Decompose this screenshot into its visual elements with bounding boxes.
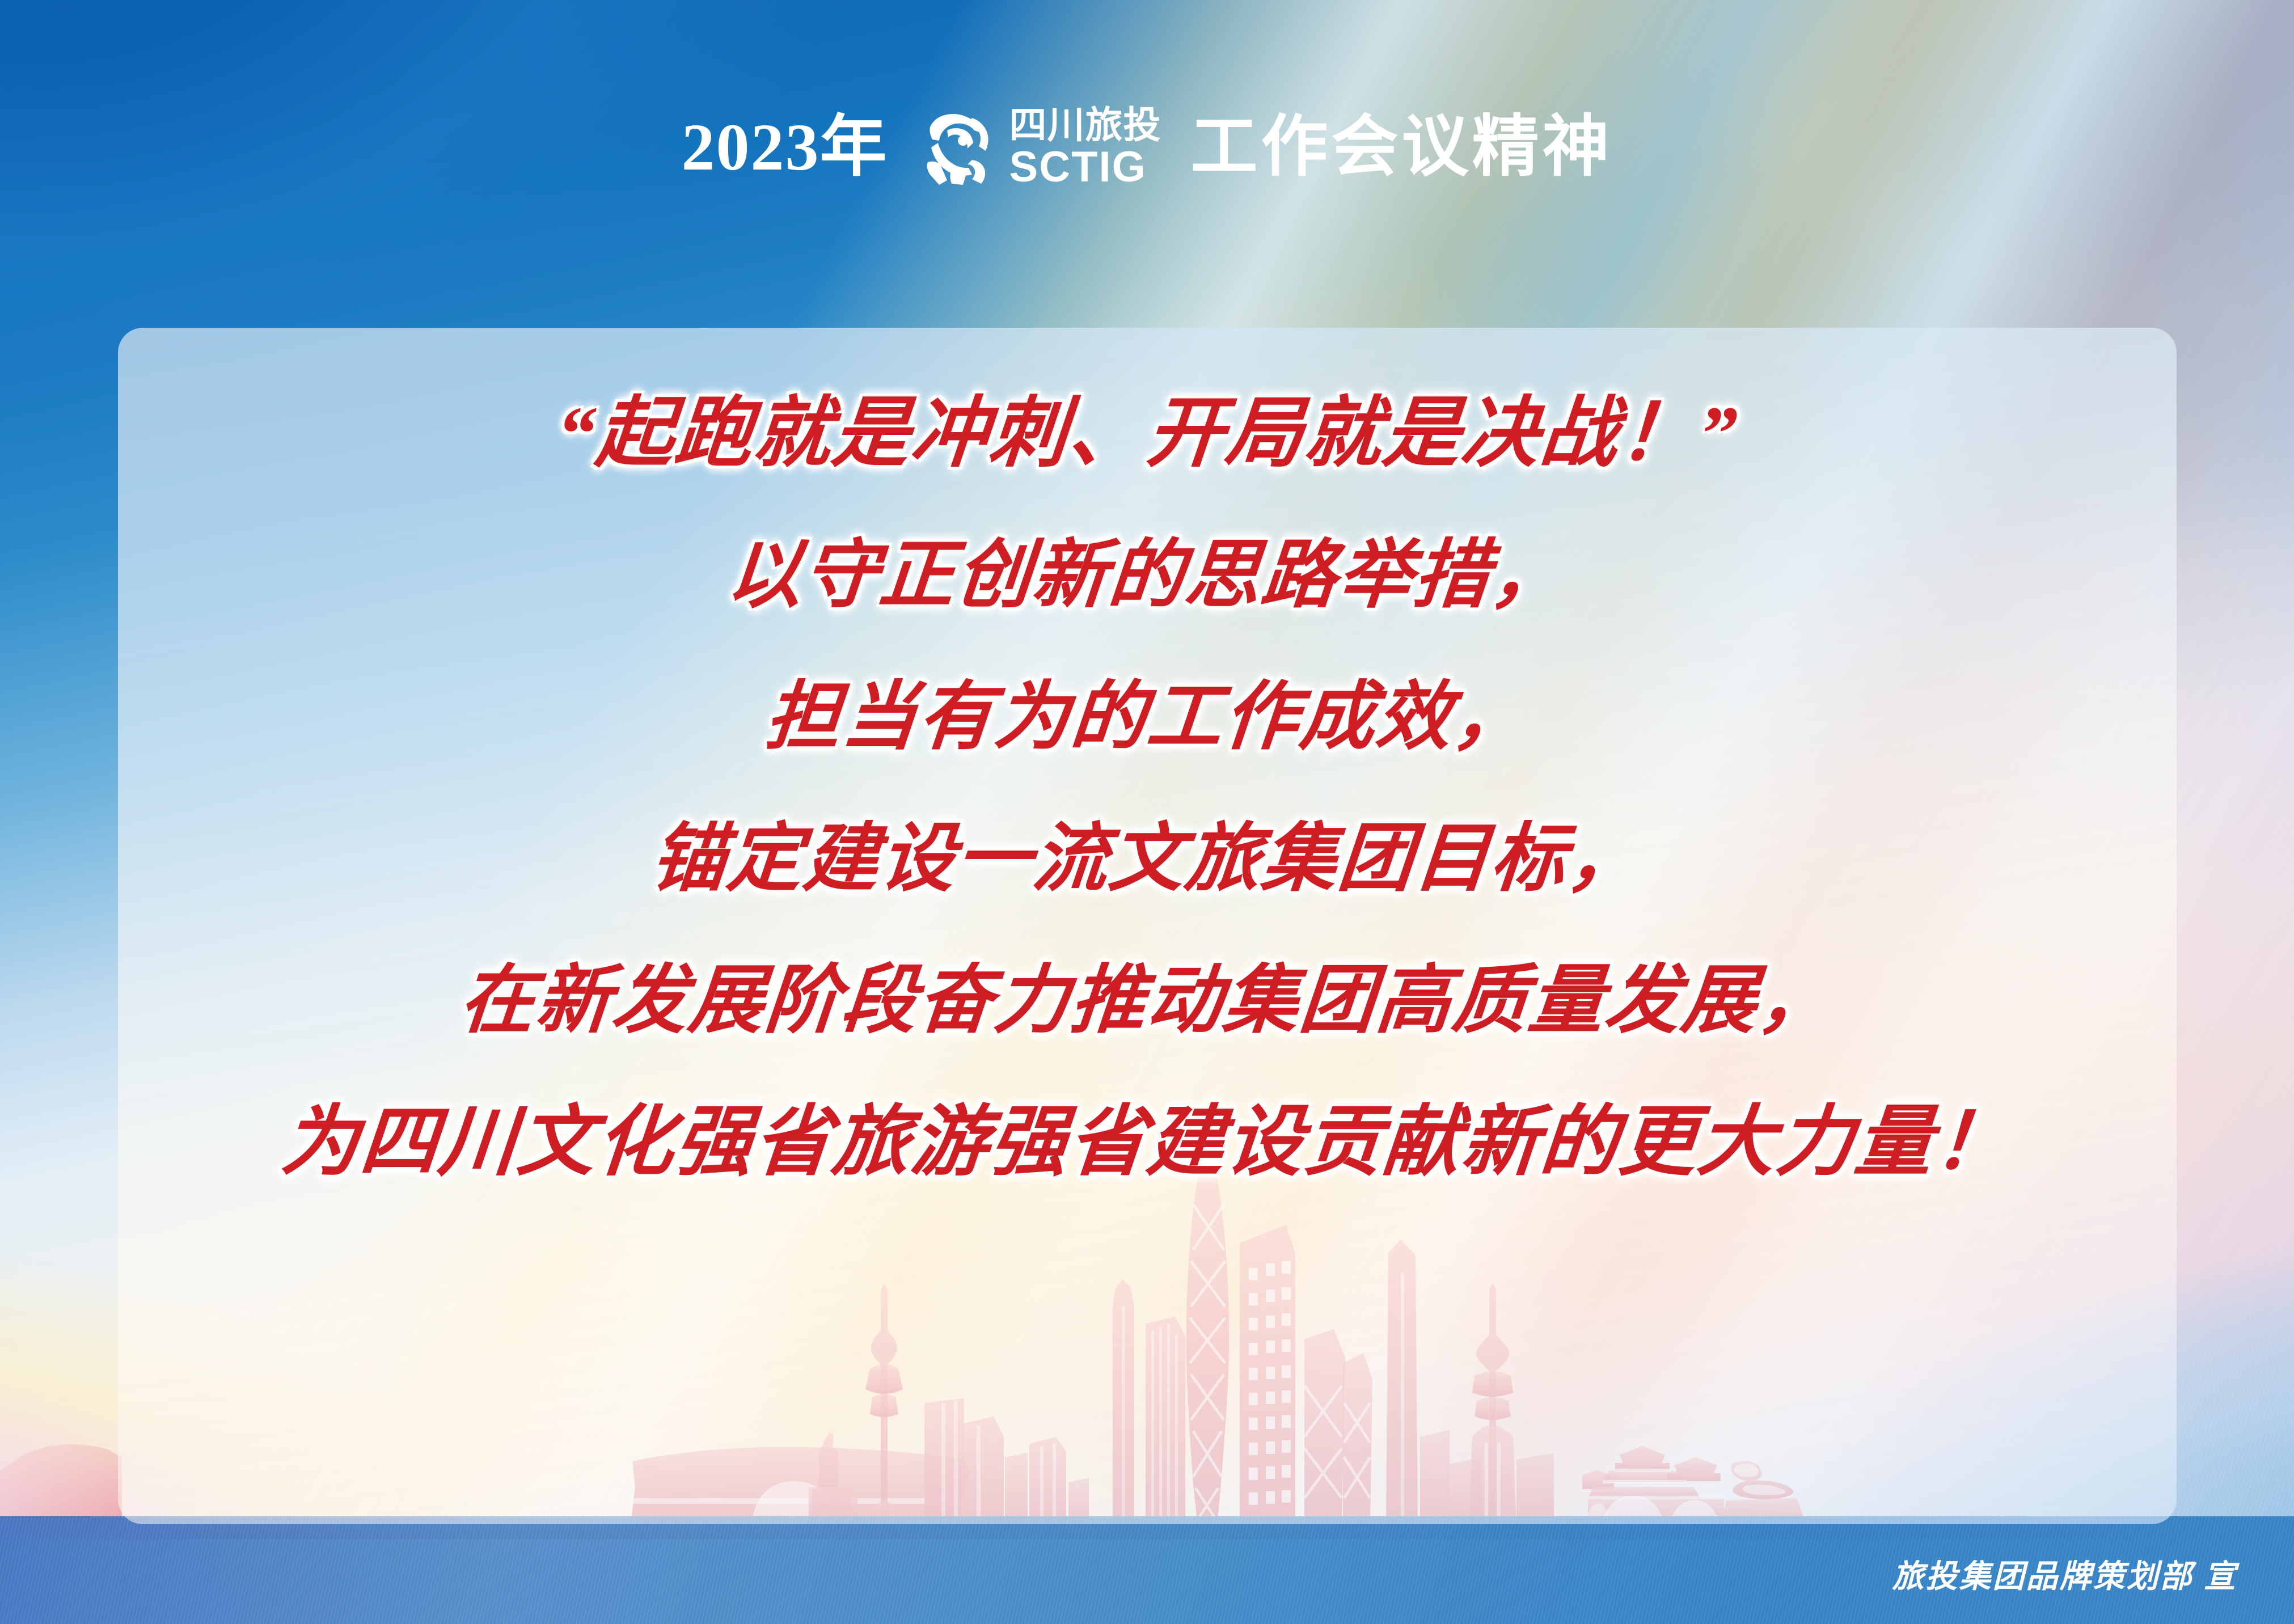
sctig-panda-globe-mark-icon — [918, 108, 997, 187]
header-year: 2023年 — [681, 114, 888, 181]
logo-chinese-name: 四川旅投 — [1009, 106, 1161, 143]
poster-canvas: 2023年 四川旅投 SC — [0, 0, 2294, 1624]
poster-header: 2023年 四川旅投 SC — [0, 91, 2294, 204]
header-title-tail: 工作会议精神 — [1191, 114, 1613, 181]
content-card — [118, 328, 2177, 1524]
logo-english-name: SCTIG — [1009, 146, 1161, 189]
footer-credit: 旅投集团品牌策划部 宣 — [1892, 1551, 2237, 1597]
sctig-logo: 四川旅投 SCTIG — [918, 106, 1161, 189]
sctig-logo-text: 四川旅投 SCTIG — [1009, 106, 1161, 189]
